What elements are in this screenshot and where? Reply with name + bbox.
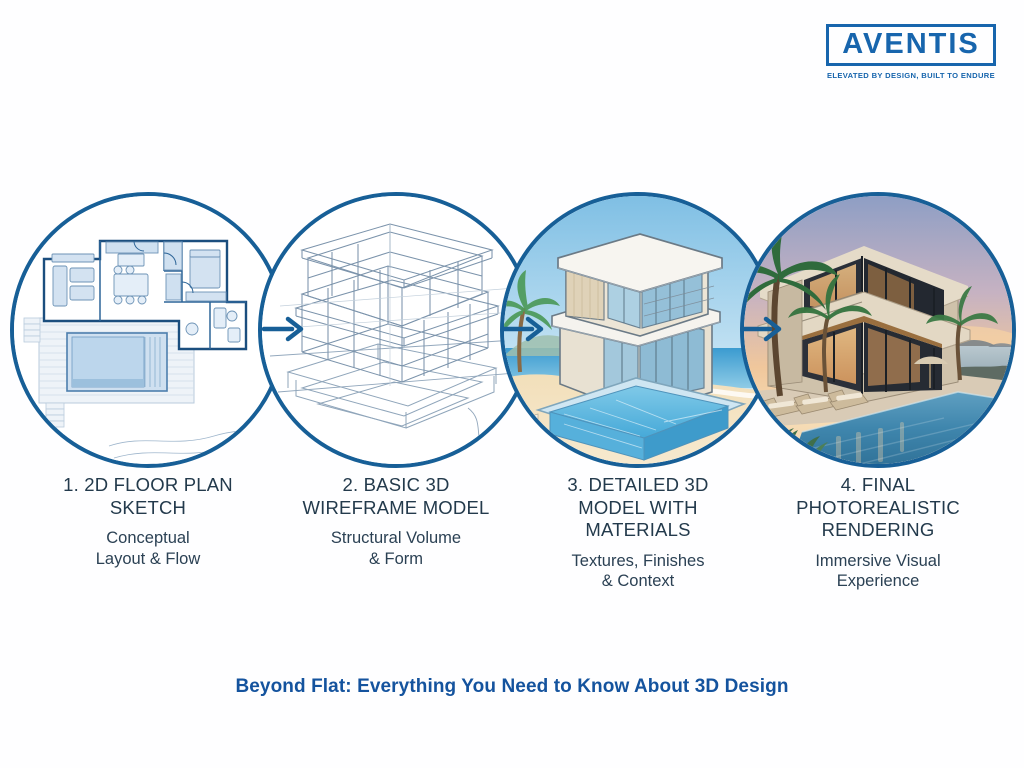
stage-4-title: 4. FINAL PHOTOREALISTIC RENDERING (753, 474, 1003, 542)
stage-2-caption: 2. BASIC 3D WIREFRAME MODEL Structural V… (271, 474, 521, 569)
stage-1-circle (10, 192, 286, 468)
infographic-page: AVENTIS ELEVATED BY DESIGN, BUILT TO END… (0, 0, 1024, 768)
stage-1-subtitle: Conceptual Layout & Flow (23, 528, 273, 569)
arrow-stage-2-to-3 (502, 314, 546, 344)
photorealistic-rendering-image (744, 196, 1012, 464)
logo-tagline: ELEVATED BY DESIGN, BUILT TO ENDURE (826, 71, 996, 80)
stage-3-title: 3. DETAILED 3D MODEL WITH MATERIALS (513, 474, 763, 542)
stage-3-subtitle: Textures, Finishes & Context (513, 551, 763, 592)
arrow-stage-1-to-2 (262, 314, 306, 344)
stage-1-caption: 1. 2D FLOOR PLAN SKETCH Conceptual Layou… (23, 474, 273, 569)
footer-caption-row: Beyond Flat: Everything You Need to Know… (0, 676, 1024, 698)
stage-3-caption: 3. DETAILED 3D MODEL WITH MATERIALS Text… (513, 474, 763, 592)
stage-4-caption: 4. FINAL PHOTOREALISTIC RENDERING Immers… (753, 474, 1003, 592)
stage-2-subtitle: Structural Volume & Form (271, 528, 521, 569)
footer-caption: Beyond Flat: Everything You Need to Know… (235, 676, 788, 697)
stage-1-title: 1. 2D FLOOR PLAN SKETCH (23, 474, 273, 519)
logo-box: AVENTIS (826, 24, 996, 66)
logo-wordmark: AVENTIS (839, 30, 983, 59)
stage-2-title: 2. BASIC 3D WIREFRAME MODEL (271, 474, 521, 519)
arrow-stage-3-to-4 (740, 314, 784, 344)
process-stages (0, 190, 1024, 470)
2d-floor-plan-sketch-image (14, 196, 282, 464)
brand-logo: AVENTIS ELEVATED BY DESIGN, BUILT TO END… (826, 24, 996, 80)
stage-4-subtitle: Immersive Visual Experience (753, 551, 1003, 592)
